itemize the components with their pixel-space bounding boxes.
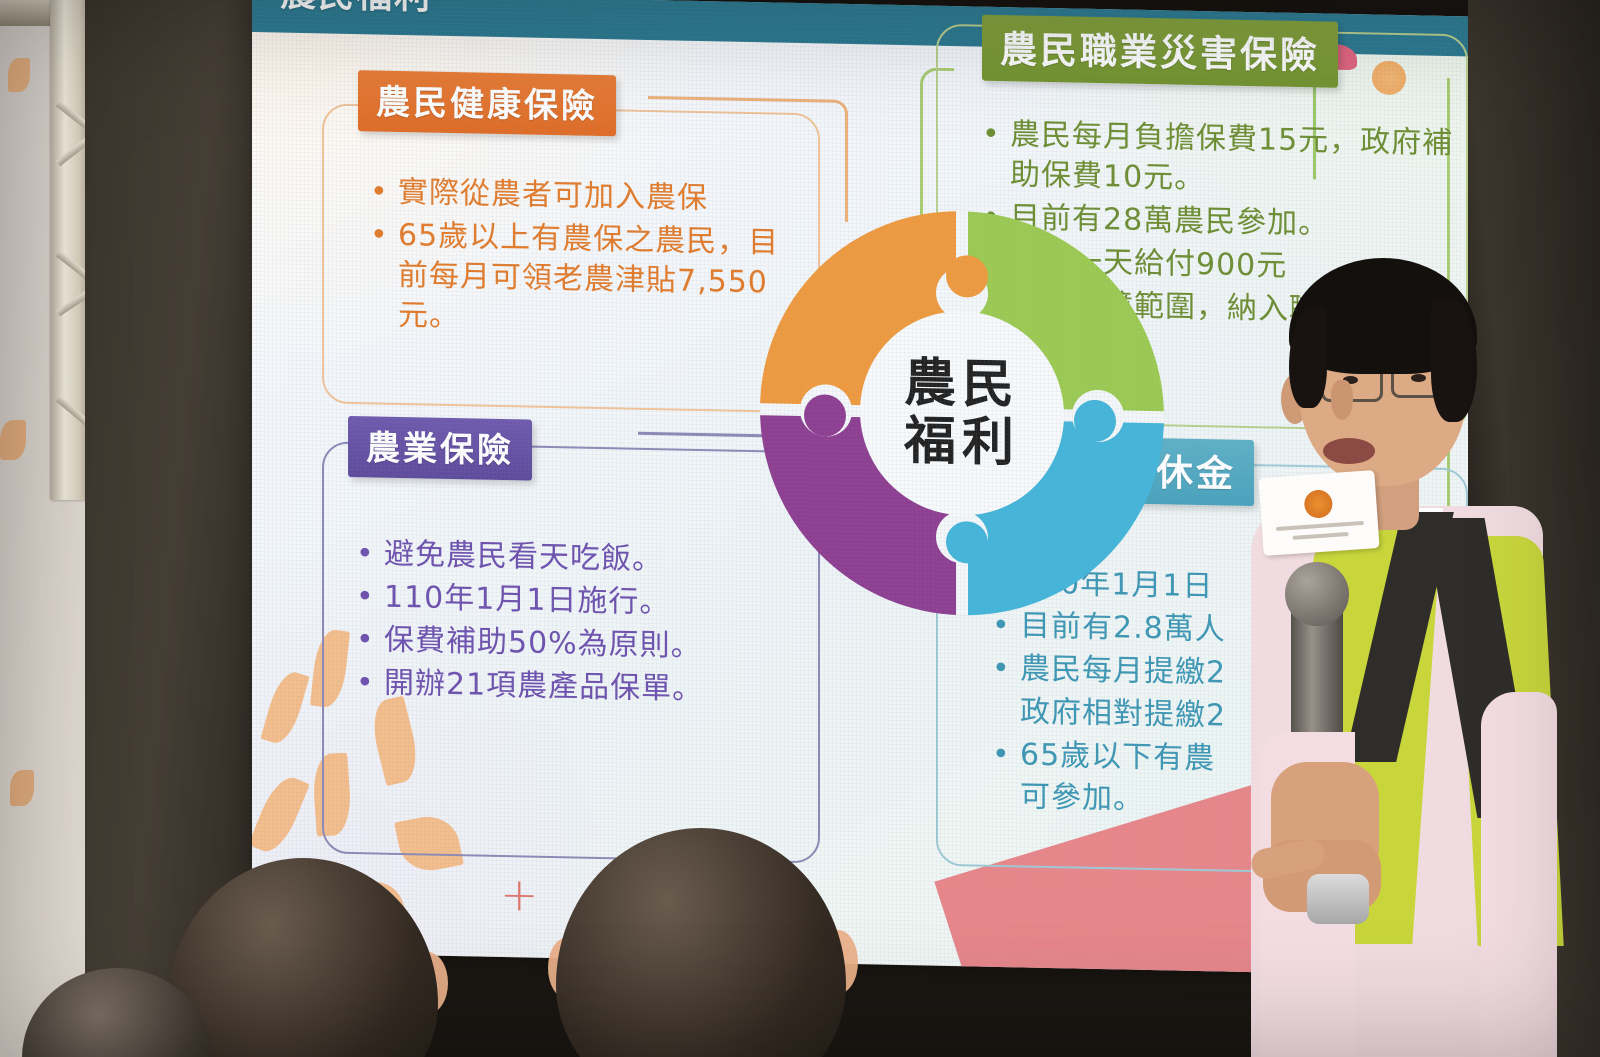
puzzle-tab [946,255,988,298]
bullet-marker: • [992,734,1020,774]
bullet-marker: • [356,620,384,660]
bullet-marker: • [982,115,1010,155]
list-item: •開辦21項農產品保單。 [356,663,806,712]
speaker-arm-right [1481,692,1557,1057]
banner-health-insurance: 農民健康保險 [358,70,616,136]
list-item: •保費補助50%為原則。 [356,620,806,669]
connector-orange-stem [845,124,848,222]
microphone-flag [1258,470,1379,556]
microphone-head [1285,562,1349,626]
puzzle-diagram: 農民 福利 [760,207,1164,619]
list-item: •避免農民看天吃飯。 [356,534,806,583]
bullet-marker: • [356,534,384,574]
bullet-marker: • [356,663,384,703]
puzzle-tab [1074,400,1116,443]
wristwatch [1307,874,1369,924]
bullets-agricultural-insurance: •避免農民看天吃飯。 •110年1月1日施行。 •保費補助50%為原則。 •開辦… [356,534,806,715]
speaker-mouth [1323,438,1375,464]
photo-scene: 農民福利 + [0,0,1600,1057]
leaf-decoration [260,668,309,748]
speaker-person [1245,262,1545,1057]
bullet-marker: • [370,215,398,255]
list-item: •農民每月負擔保費15元，政府補助保費10元。 [982,115,1482,205]
connector-green-stem [920,97,923,221]
connector-orange [648,96,834,103]
bullet-marker: • [370,172,398,212]
center-line-2: 福利 [904,412,1020,473]
bullet-marker: • [992,649,1020,689]
banner-agricultural-insurance: 農業保險 [348,416,532,481]
banner-occupational-injury: 農民職業災害保險 [982,15,1338,88]
plus-decoration: + [500,871,539,918]
speaker-eye [1411,374,1426,382]
puzzle-tab [804,394,846,437]
center-line-1: 農民 [904,354,1020,415]
list-item: •實際從農者可加入農保 [370,172,790,220]
broadcaster-logo-icon [1303,489,1333,519]
list-item: •65歲以上有農保之農民，目前每月可領老農津貼7,550元。 [370,215,790,343]
connector-orange-elbow [820,99,848,128]
puzzle-tab [946,521,988,564]
bullets-health-insurance: •實際從農者可加入農保 •65歲以上有農保之農民，目前每月可領老農津貼7,550… [370,172,790,346]
slide-title: 農民福利 [280,0,432,20]
leaf-decoration [252,771,310,858]
bullet-marker: • [356,577,384,617]
list-item: •110年1月1日施行。 [356,577,806,626]
speaker-nose [1331,380,1353,420]
